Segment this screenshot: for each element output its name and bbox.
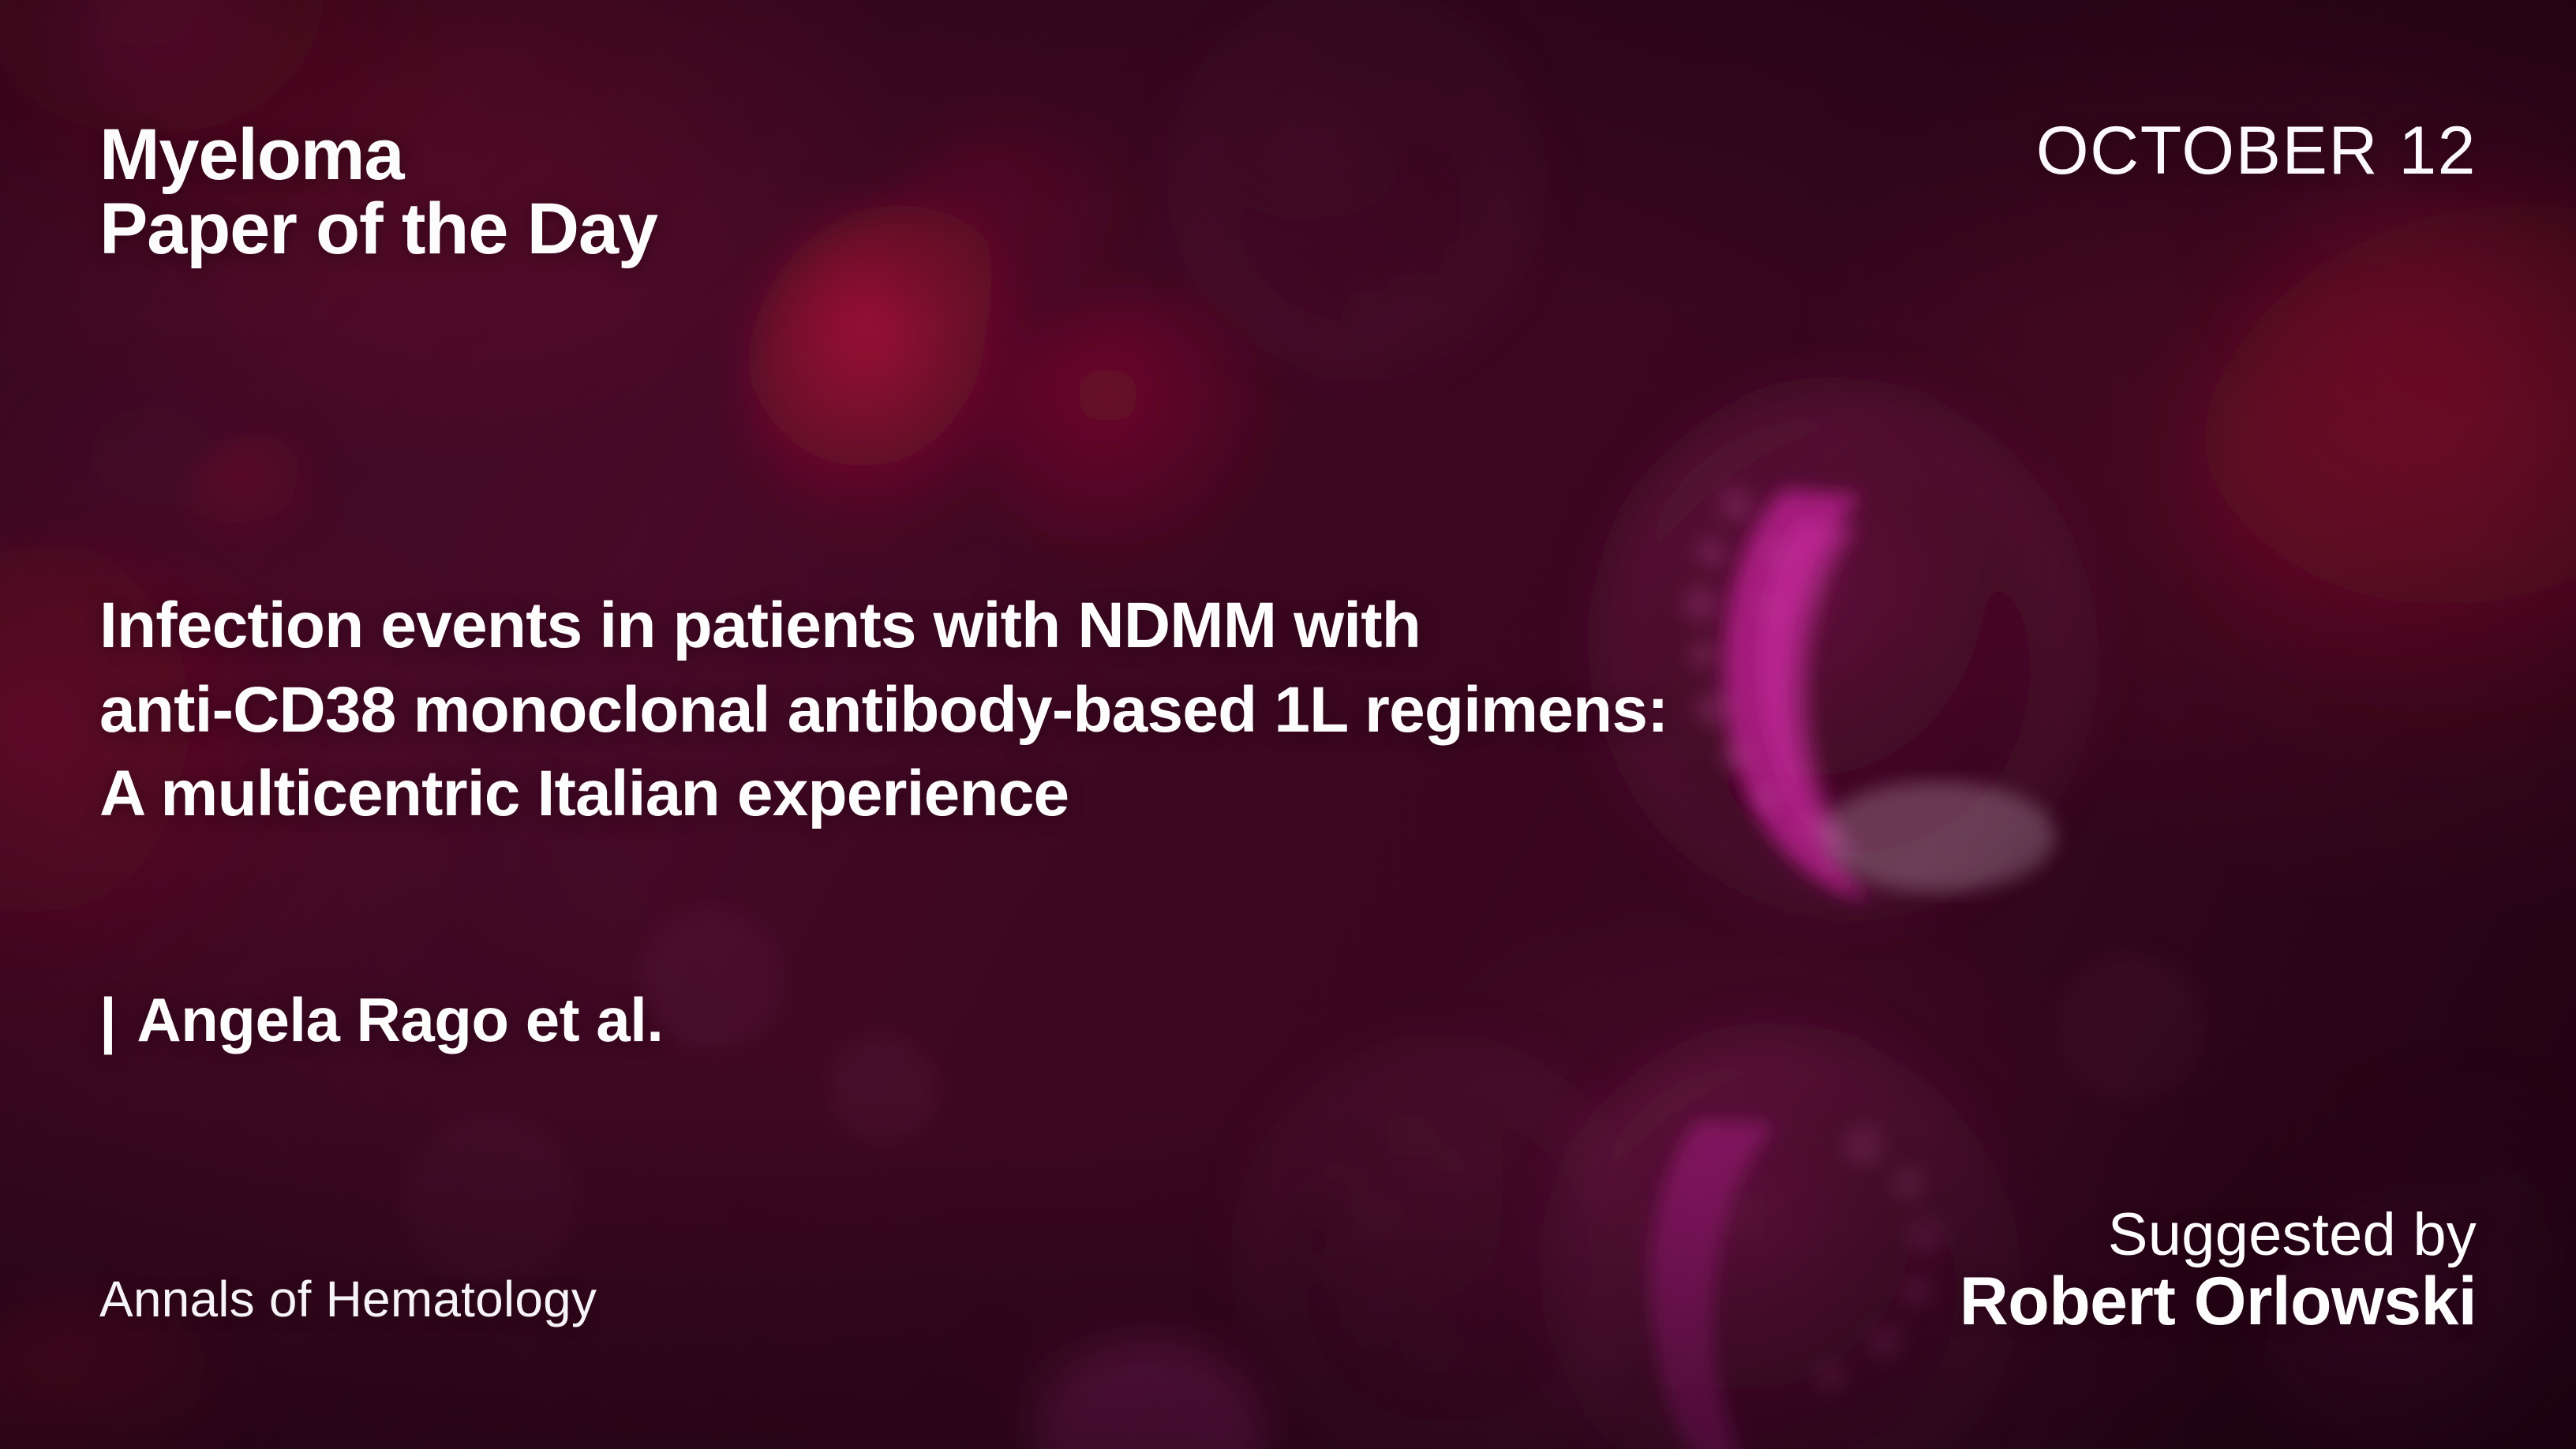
authors-names: Angela Rago et al.	[137, 985, 663, 1054]
date-label: OCTOBER 12	[2036, 117, 2477, 185]
suggested-by-label: Suggested by	[1960, 1204, 2477, 1266]
paper-title: Infection events in patients with NDMM w…	[99, 584, 1668, 837]
brand-line-2: Paper of the Day	[99, 193, 657, 267]
paper-title-line-3: A multicentric Italian experience	[99, 752, 1668, 837]
suggested-by-block: Suggested by Robert Orlowski	[1960, 1204, 2477, 1339]
content-layer: Myeloma Paper of the Day OCTOBER 12 Infe…	[0, 0, 2576, 1449]
journal-name: Annals of Hematology	[99, 1274, 597, 1324]
paper-authors: |Angela Rago et al.	[99, 989, 663, 1050]
paper-title-line-2: anti-CD38 monoclonal antibody-based 1L r…	[99, 668, 1668, 753]
suggested-by-name: Robert Orlowski	[1960, 1265, 2477, 1339]
brand-line-1: Myeloma	[99, 118, 657, 193]
paper-title-line-1: Infection events in patients with NDMM w…	[99, 584, 1668, 668]
poster-canvas: Myeloma Paper of the Day OCTOBER 12 Infe…	[0, 0, 2576, 1449]
series-brand-title: Myeloma Paper of the Day	[99, 118, 657, 267]
authors-separator-bar: |	[99, 989, 116, 1050]
